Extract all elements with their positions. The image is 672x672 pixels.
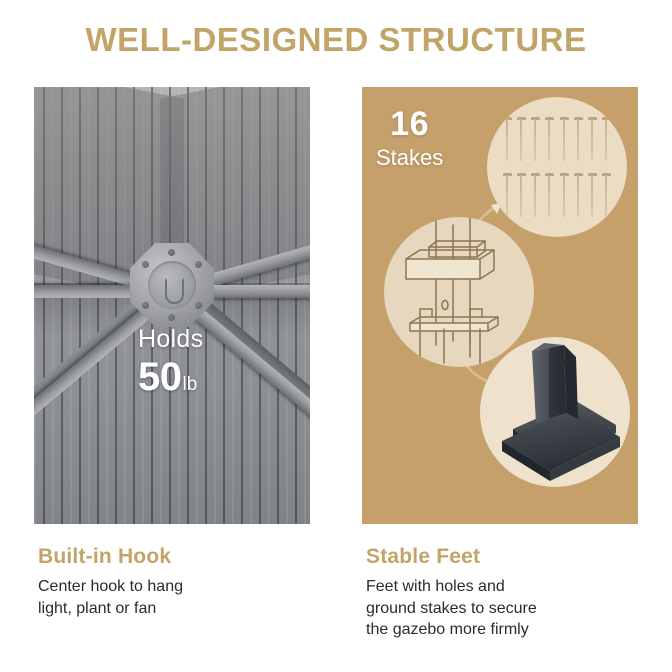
holds-value-group: 50 lb (138, 357, 203, 397)
caption-title: Built-in Hook (38, 545, 328, 569)
caption-line: light, plant or fan (38, 598, 328, 620)
caption-built-in-hook: Built-in Hook Center hook to hang light,… (38, 545, 328, 619)
stake-shaft (548, 119, 550, 161)
right-feature-panel: 16 Stakes (362, 87, 638, 524)
stake-shaft (506, 175, 508, 217)
stake-item (545, 171, 554, 217)
holds-unit: lb (183, 375, 198, 394)
caption-line: Center hook to hang (38, 576, 328, 598)
holds-value: 50 (138, 357, 182, 397)
caption-line: Feet with holes and (366, 576, 656, 598)
stake-shaft (577, 175, 579, 217)
stake-item (574, 115, 583, 161)
stake-grid (503, 115, 611, 219)
caption-line: the gazebo more firmly (366, 619, 656, 641)
caption-body: Center hook to hang light, plant or fan (38, 576, 328, 619)
left-feature-panel: Holds 50 lb (34, 87, 310, 524)
holds-capacity-overlay: Holds 50 lb (138, 327, 203, 397)
stake-shaft (577, 119, 579, 161)
hub-bolt (168, 249, 175, 256)
gazebo-roof-photo: Holds 50 lb (34, 87, 310, 524)
stake-item (602, 171, 611, 217)
stake-shaft (591, 119, 593, 161)
stake-item (531, 171, 540, 217)
stake-item (560, 115, 569, 161)
stake-item (531, 115, 540, 161)
stake-shaft (520, 175, 522, 217)
center-hub-plate (130, 243, 214, 327)
stake-shaft (605, 119, 607, 161)
caption-body: Feet with holes and ground stakes to sec… (366, 576, 656, 641)
stake-row (503, 115, 611, 161)
stake-item (517, 171, 526, 217)
stake-shaft (605, 175, 607, 217)
stakes-badge: 16 Stakes (376, 107, 443, 169)
stake-item (545, 115, 554, 161)
stake-shaft (506, 119, 508, 161)
stake-row (503, 171, 611, 217)
caption-title: Stable Feet (366, 545, 656, 569)
stake-item (503, 115, 512, 161)
stake-shaft (563, 119, 565, 161)
stake-shaft (534, 119, 536, 161)
stakes-count: 16 (376, 107, 443, 141)
hub-bolt (142, 261, 149, 268)
hub-bolt (195, 302, 202, 309)
stake-item (574, 171, 583, 217)
stake-item (588, 171, 597, 217)
gazebo-foot-photo (480, 337, 630, 487)
stake-shaft (534, 175, 536, 217)
stakes-illustration-circle (487, 97, 627, 237)
hub-bolt (142, 302, 149, 309)
stake-shaft (548, 175, 550, 217)
hub-bolt (168, 314, 175, 321)
page-title: WELL-DESIGNED STRUCTURE (0, 21, 672, 59)
stake-item (602, 115, 611, 161)
hub-bolt (195, 261, 202, 268)
stake-item (588, 115, 597, 161)
caption-stable-feet: Stable Feet Feet with holes and ground s… (366, 545, 656, 641)
caption-line: ground stakes to secure (366, 598, 656, 620)
stakes-label: Stakes (376, 147, 443, 169)
ceiling-hook-icon (165, 278, 184, 304)
stake-item (517, 115, 526, 161)
stake-item (560, 171, 569, 217)
stake-item (503, 171, 512, 217)
holds-label: Holds (138, 327, 203, 352)
stake-shaft (591, 175, 593, 217)
stake-shaft (520, 119, 522, 161)
stake-shaft (563, 175, 565, 217)
gazebo-foot-photo-circle (480, 337, 630, 487)
